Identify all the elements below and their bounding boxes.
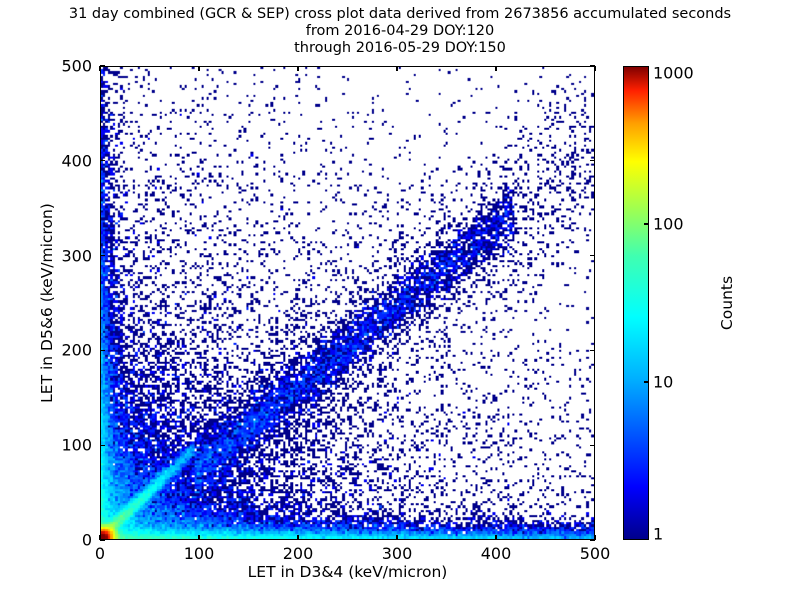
y-tick <box>100 350 105 351</box>
colorbar-gradient <box>624 67 648 539</box>
y-tick <box>100 255 105 256</box>
colorbar-tick-label: 10 <box>653 373 673 392</box>
title-line-3: through 2016-05-29 DOY:150 <box>0 40 800 57</box>
x-tick <box>297 535 298 540</box>
x-tick-label: 400 <box>481 544 512 563</box>
y-axis-label: LET in D5&6 (keV/micron) <box>38 66 56 540</box>
y-tick <box>100 445 105 446</box>
colorbar-label: Counts <box>718 66 736 540</box>
x-tick-top <box>99 66 100 71</box>
x-tick-label: 200 <box>283 544 314 563</box>
x-tick-label: 500 <box>580 544 611 563</box>
x-tick-top <box>396 66 397 71</box>
x-tick-top <box>198 66 199 71</box>
y-tick <box>100 65 105 66</box>
density-heatmap-canvas <box>101 67 594 539</box>
title-line-1: 31 day combined (GCR & SEP) cross plot d… <box>0 6 800 23</box>
title-line-2: from 2016-04-29 DOY:120 <box>0 23 800 40</box>
colorbar-tick-label: 1000 <box>653 64 694 83</box>
x-tick <box>495 535 496 540</box>
let-cross-plot-figure: 31 day combined (GCR & SEP) cross plot d… <box>0 0 800 600</box>
x-tick-top <box>495 66 496 71</box>
x-tick-top <box>594 66 595 71</box>
y-tick <box>100 160 105 161</box>
y-tick-right <box>590 350 595 351</box>
x-tick-label: 0 <box>95 544 105 563</box>
y-tick <box>100 539 105 540</box>
x-axis-label: LET in D3&4 (keV/micron) <box>100 563 595 581</box>
y-tick-right <box>590 65 595 66</box>
figure-title: 31 day combined (GCR & SEP) cross plot d… <box>0 6 800 57</box>
y-tick-right <box>590 445 595 446</box>
colorbar-tick-label: 100 <box>653 215 684 234</box>
colorbar-tick <box>644 223 649 224</box>
colorbar <box>623 66 649 540</box>
y-tick-right <box>590 255 595 256</box>
x-tick-label: 300 <box>382 544 413 563</box>
colorbar-tick <box>644 381 649 382</box>
x-tick-label: 100 <box>184 544 215 563</box>
plot-area <box>100 66 595 540</box>
x-tick <box>396 535 397 540</box>
x-tick <box>198 535 199 540</box>
y-tick-right <box>590 160 595 161</box>
colorbar-tick-label: 1 <box>653 525 663 544</box>
y-tick-right <box>590 539 595 540</box>
x-tick-top <box>297 66 298 71</box>
